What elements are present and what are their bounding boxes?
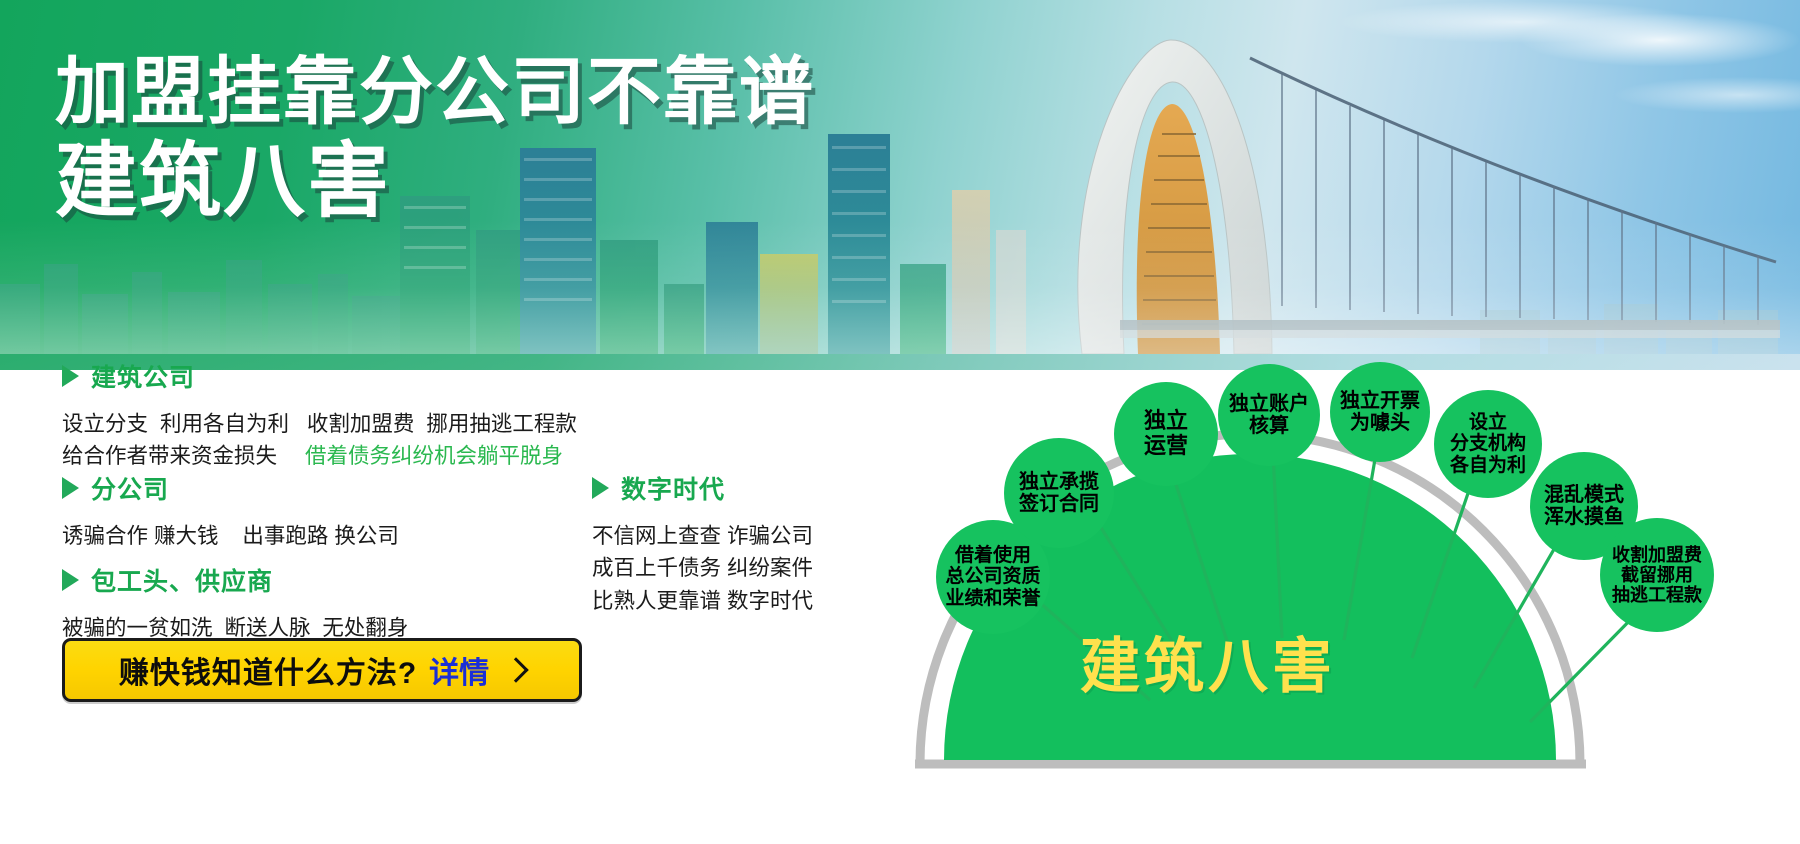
bubble-independent-invoicing[interactable]: 独立开票为噱头: [1330, 362, 1430, 462]
bubble-text: 借着使用总公司资质业绩和荣誉: [945, 545, 1040, 609]
hero-title-line1: 加盟挂靠分公司不靠谱: [55, 52, 815, 132]
bubble-setup-branches[interactable]: 设立分支机构各自为利: [1434, 390, 1542, 498]
section-header: 数字时代: [592, 470, 852, 506]
triangle-bullet-icon: [62, 477, 79, 499]
hero-title: 加盟挂靠分公司不靠谱 建筑八害: [55, 52, 815, 226]
dome-center-label: 建筑八害: [1080, 618, 1336, 705]
poster-canvas: 加盟挂靠分公司不靠谱 建筑八害 建筑公司 设立分支 利用各自为利 收割加盟费 挪…: [0, 0, 1800, 844]
bubble-text: 独立运营: [1144, 409, 1188, 458]
bazaihai-diagram: 建筑八害 借着使用总公司资质业绩和荣誉 独立承揽签订合同 独立运营 独立账户核算…: [900, 370, 1800, 844]
section-contractor-supplier: 包工头、供应商 被骗的一贫如洗 断送人脉 无处翻身: [62, 562, 522, 644]
left-content-panel: 建筑公司 设立分支 利用各自为利 收割加盟费 挪用抽逃工程款 给合作者带来资金损…: [0, 370, 900, 844]
section-construction-company: 建筑公司 设立分支 利用各自为利 收割加盟费 挪用抽逃工程款 给合作者带来资金损…: [62, 358, 622, 473]
section-line-highlight: 借着债务纠纷机会躺平脱身: [305, 444, 563, 468]
cta-question-label: 赚快钱知道什么方法?: [119, 648, 417, 692]
bubble-text: 混乱模式浑水摸鱼: [1544, 484, 1624, 529]
section-line: 诱骗合作 赚大钱 出事跑路 换公司: [62, 520, 502, 552]
bubble-text: 独立开票为噱头: [1340, 390, 1420, 435]
section-header: 包工头、供应商: [62, 562, 522, 598]
bubble-independent-contracting[interactable]: 独立承揽签订合同: [1004, 438, 1114, 548]
section-title: 数字时代: [621, 470, 725, 506]
section-line: 比熟人更靠谱 数字时代: [592, 585, 852, 617]
hero-haze-overlay: [0, 220, 1800, 370]
section-header: 分公司: [62, 470, 502, 506]
cta-detail-link[interactable]: 详情: [429, 648, 489, 692]
section-header: 建筑公司: [62, 358, 622, 394]
section-title: 包工头、供应商: [91, 562, 273, 598]
bubble-franchise-fee-harvest[interactable]: 收割加盟费截留挪用抽逃工程款: [1600, 518, 1714, 632]
chevron-right-icon: [503, 657, 528, 682]
section-digital-era: 数字时代 不信网上查查 诈骗公司 成百上千债务 纠纷案件 比熟人更靠谱 数字时代: [592, 470, 852, 617]
bubble-text: 收割加盟费截留挪用抽逃工程款: [1612, 545, 1702, 605]
bubble-text: 独立账户核算: [1229, 393, 1309, 438]
bubble-text: 设立分支机构各自为利: [1450, 412, 1526, 476]
section-title: 分公司: [91, 470, 169, 506]
triangle-bullet-icon: [62, 365, 79, 387]
section-line: 不信网上查查 诈骗公司: [592, 520, 852, 552]
section-line: 给合作者带来资金损失借着债务纠纷机会躺平脱身: [62, 440, 622, 472]
triangle-bullet-icon: [592, 477, 609, 499]
hero-banner: 加盟挂靠分公司不靠谱 建筑八害: [0, 0, 1800, 370]
section-title: 建筑公司: [91, 358, 195, 394]
hero-title-line2: 建筑八害: [55, 138, 815, 227]
bubble-independent-operation[interactable]: 独立运营: [1114, 382, 1218, 486]
section-line: 设立分支 利用各自为利 收割加盟费 挪用抽逃工程款: [62, 408, 622, 440]
cta-button[interactable]: 赚快钱知道什么方法? 详情: [62, 638, 582, 702]
section-line: 成百上千债务 纠纷案件: [592, 552, 852, 584]
triangle-bullet-icon: [62, 569, 79, 591]
bubble-independent-account[interactable]: 独立账户核算: [1218, 364, 1320, 466]
bubble-text: 独立承揽签订合同: [1019, 471, 1099, 516]
section-line-text: 给合作者带来资金损失: [62, 444, 277, 468]
section-branch-company: 分公司 诱骗合作 赚大钱 出事跑路 换公司: [62, 470, 502, 552]
